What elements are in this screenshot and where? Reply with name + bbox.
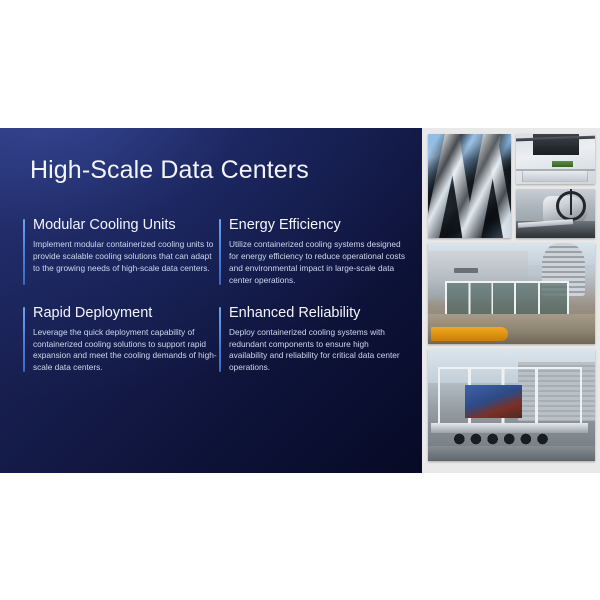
accent-bar-icon (219, 307, 221, 373)
feature-card-body: Utilize containerized cooling systems de… (229, 239, 407, 286)
feature-cards-grid: Modular Cooling Units Implement modular … (23, 217, 407, 374)
accent-bar-icon (23, 307, 25, 373)
photo-column-right (516, 134, 595, 238)
page-title: High-Scale Data Centers (30, 156, 309, 185)
feature-card-energy-efficiency: Energy Efficiency Utilize containerized … (219, 217, 407, 287)
feature-card-heading: Rapid Deployment (33, 305, 219, 322)
feature-card-body: Deploy containerized cooling systems wit… (229, 327, 407, 374)
accent-bar-icon (23, 219, 25, 285)
presentation-slide: High-Scale Data Centers Modular Cooling … (0, 128, 600, 473)
feature-card-heading: Energy Efficiency (229, 217, 407, 234)
white-curved-structure-photo (428, 134, 511, 238)
feature-card-rapid-deployment: Rapid Deployment Leverage the quick depl… (23, 305, 219, 375)
containerized-cooling-unit-site-photo (428, 243, 595, 344)
cooling-container-frame (445, 281, 569, 315)
container-structure-grid (447, 283, 567, 313)
feature-card-modular-cooling-units: Modular Cooling Units Implement modular … (23, 217, 219, 287)
slide-content-region: High-Scale Data Centers Modular Cooling … (0, 128, 422, 473)
internal-machinery (465, 385, 522, 419)
photo-row-top (428, 134, 595, 238)
feature-card-heading: Enhanced Reliability (229, 305, 407, 322)
yellow-crane-boom (431, 327, 508, 341)
equipment-ceiling-panel-photo (516, 134, 595, 184)
equipment-basin (522, 170, 587, 182)
valve-wheel-icon (556, 191, 586, 221)
trailer-wheels (451, 432, 555, 447)
road-surface (428, 446, 595, 461)
feature-card-heading: Modular Cooling Units (33, 217, 219, 234)
green-control-box (552, 161, 573, 167)
shadow-overlay (428, 134, 511, 238)
photo-collage-panel (422, 128, 600, 473)
cooling-unit-on-trailer-photo (428, 349, 595, 461)
slide-canvas: High-Scale Data Centers Modular Cooling … (0, 0, 600, 600)
accent-bar-icon (219, 219, 221, 285)
feature-card-body: Implement modular containerized cooling … (33, 239, 219, 274)
feature-card-enhanced-reliability: Enhanced Reliability Deploy containerize… (219, 305, 407, 375)
feature-card-body: Leverage the quick deployment capability… (33, 327, 219, 374)
valve-wheel-vessel-photo (516, 189, 595, 239)
